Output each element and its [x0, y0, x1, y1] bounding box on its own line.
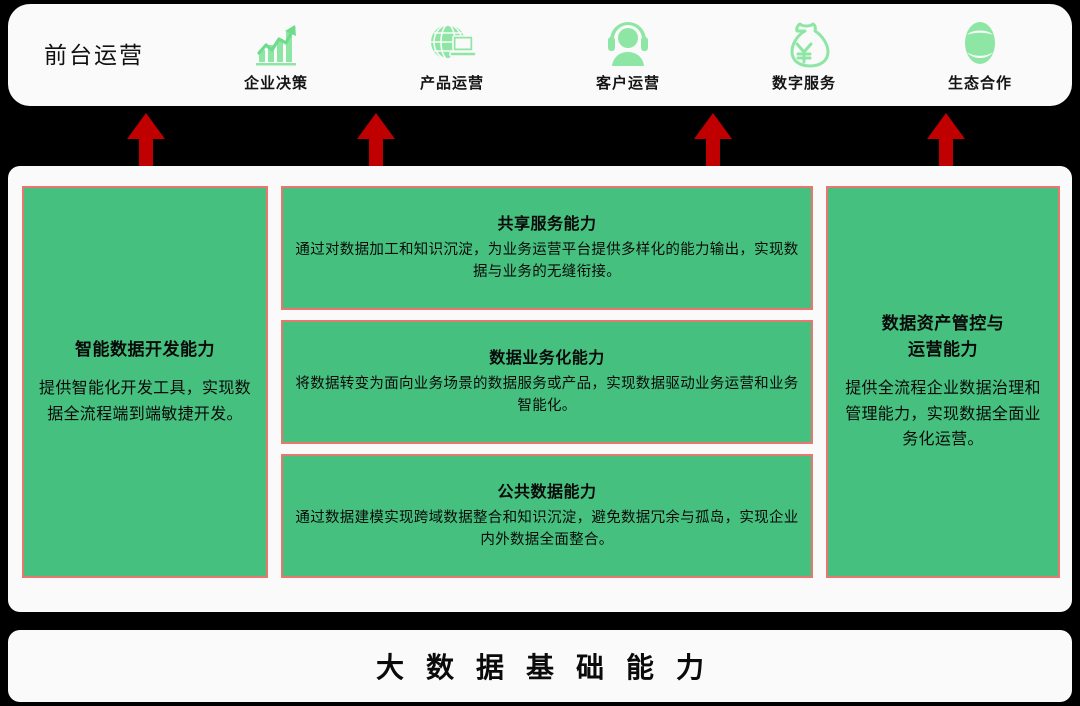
headset-agent-icon [601, 18, 655, 70]
card-data-asset-governance[interactable]: 数据资产管控与 运营能力 提供全流程企业数据治理和管理能力，实现数据全面业务化运… [826, 186, 1060, 578]
globe-laptop-icon [425, 18, 479, 70]
card-desc: 通过对数据加工和知识沉淀，为业务运营平台提供多样化的能力输出，实现数据与业务的无… [295, 239, 799, 284]
center-column: 共享服务能力 通过对数据加工和知识沉淀，为业务运营平台提供多样化的能力输出，实现… [281, 186, 813, 578]
top-item-label: 产品运营 [420, 72, 484, 93]
capability-panel: 智能数据开发能力 提供智能化开发工具，实现数据全流程端到端敏捷开发。 共享服务能… [8, 166, 1072, 612]
left-column: 智能数据开发能力 提供智能化开发工具，实现数据全流程端到端敏捷开发。 [22, 186, 268, 578]
card-title: 智能数据开发能力 [75, 337, 215, 363]
page-title: 前台运营 [44, 36, 144, 70]
diagram-root: 前台运营 企业决策 [0, 0, 1080, 706]
top-item-label: 客户运营 [596, 72, 660, 93]
foundation-title: 大数据基础能力 [354, 646, 726, 686]
card-title-line-2: 运营能力 [908, 340, 978, 359]
top-item-label: 企业决策 [244, 72, 308, 93]
top-item-product-operations[interactable]: 产品运营 [364, 4, 540, 106]
top-item-ecosystem-cooperation[interactable]: 生态合作 [892, 4, 1068, 106]
card-title-line-1: 数据资产管控与 [882, 314, 1005, 333]
top-item-label: 生态合作 [948, 72, 1012, 93]
leaf-ellipse-icon [953, 18, 1007, 70]
card-desc: 将数据转变为面向业务场景的数据服务或产品，实现数据驱动业务运营和业务智能化。 [295, 373, 799, 418]
front-office-items: 企业决策 [188, 4, 1068, 106]
foundation-bar: 大数据基础能力 [8, 630, 1072, 702]
top-item-enterprise-decision[interactable]: 企业决策 [188, 4, 364, 106]
card-shared-service-capability[interactable]: 共享服务能力 通过对数据加工和知识沉淀，为业务运营平台提供多样化的能力输出，实现… [281, 186, 813, 310]
card-title: 共享服务能力 [497, 213, 596, 237]
bar-chart-growth-icon [249, 18, 303, 70]
card-desc: 通过数据建模实现跨域数据整合和知识沉淀，避免数据冗余与孤岛，实现企业内外数据全面… [295, 507, 799, 552]
card-public-data-capability[interactable]: 公共数据能力 通过数据建模实现跨域数据整合和知识沉淀，避免数据冗余与孤岛，实现企… [281, 454, 813, 578]
top-item-digital-service[interactable]: 数字服务 [716, 4, 892, 106]
card-desc: 提供智能化开发工具，实现数据全流程端到端敏捷开发。 [36, 376, 254, 427]
card-title: 数据资产管控与 运营能力 [882, 311, 1005, 362]
card-intelligent-data-development[interactable]: 智能数据开发能力 提供智能化开发工具，实现数据全流程端到端敏捷开发。 [22, 186, 268, 578]
top-item-customer-operations[interactable]: 客户运营 [540, 4, 716, 106]
card-title: 数据业务化能力 [489, 347, 605, 371]
right-column: 数据资产管控与 运营能力 提供全流程企业数据治理和管理能力，实现数据全面业务化运… [826, 186, 1060, 578]
card-desc: 提供全流程企业数据治理和管理能力，实现数据全面业务化运营。 [840, 376, 1046, 453]
money-bag-yen-icon [777, 18, 831, 70]
top-item-label: 数字服务 [772, 72, 836, 93]
card-data-businessization-capability[interactable]: 数据业务化能力 将数据转变为面向业务场景的数据服务或产品，实现数据驱动业务运营和… [281, 320, 813, 444]
front-office-bar: 前台运营 企业决策 [8, 4, 1072, 106]
card-title: 公共数据能力 [497, 481, 596, 505]
